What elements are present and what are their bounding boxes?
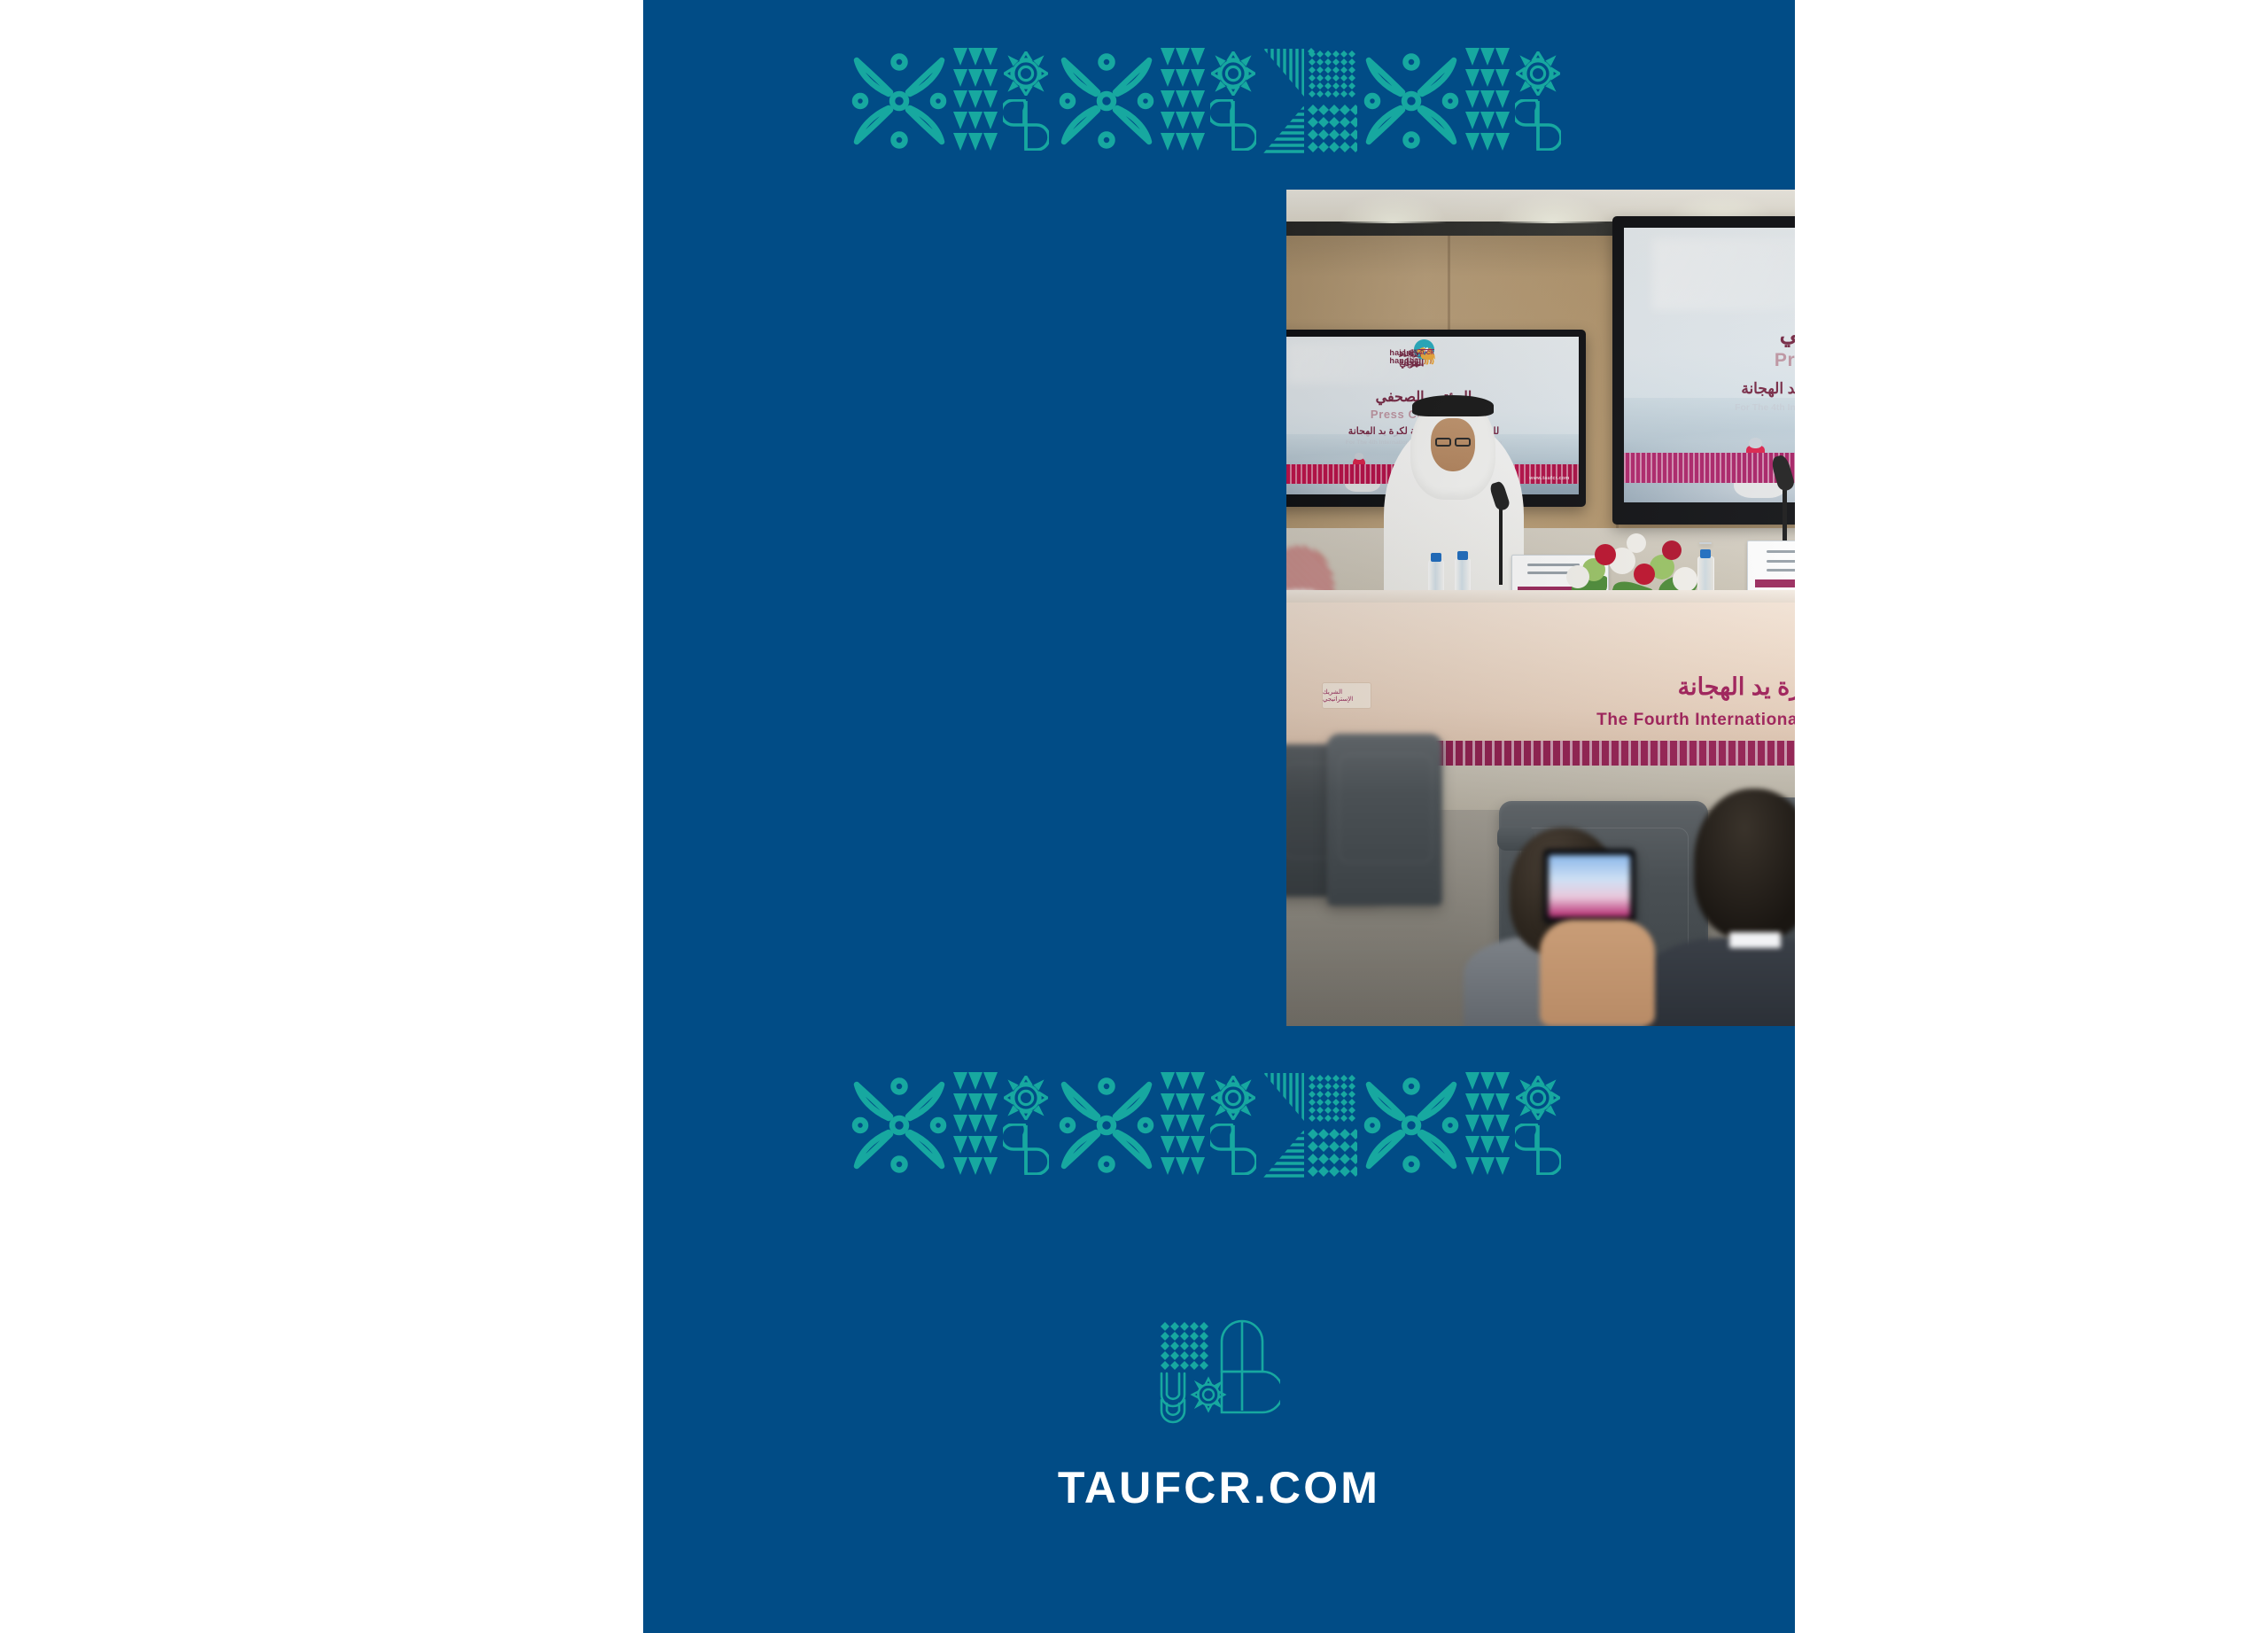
slide-title-latin-center: Press Conference	[1624, 350, 1795, 371]
slide-center: كرة يد الهجانة hajanh handball الاتحاد ا…	[1624, 228, 1795, 502]
sun-icon	[1516, 51, 1560, 96]
audience-shoulders	[1644, 937, 1795, 1026]
flower-motif-icon	[1358, 1072, 1464, 1178]
sun-icon	[1004, 51, 1048, 96]
sun-scurve-motif-icon	[1206, 1068, 1261, 1183]
triangle-grid-motif-icon	[1160, 46, 1206, 156]
screen-glare	[1652, 238, 1795, 310]
scurve-motif-icon	[1210, 99, 1256, 151]
banner-partner-badge-left: الشريك الإستراتيجي	[1322, 682, 1371, 709]
horizontal-stripe-triangle-icon	[1262, 104, 1306, 155]
screen-surface-center: كرة يد الهجانة hajanh handball الاتحاد ا…	[1624, 228, 1795, 502]
scurve-motif-icon	[1003, 1124, 1049, 1175]
scurve-motif-icon	[1515, 1124, 1561, 1175]
slide-action-photo-center	[1624, 398, 1795, 502]
flower-motif-icon	[846, 1072, 952, 1178]
triangle-grid-motif-icon	[952, 1070, 998, 1180]
speaker-left-glasses	[1455, 438, 1471, 447]
sun-icon	[1516, 1076, 1560, 1120]
tablet-device	[1543, 849, 1635, 923]
flower-motif-icon	[1053, 1072, 1160, 1178]
scurve-motif-icon	[1003, 99, 1049, 151]
triangle-grid-motif-icon	[952, 46, 998, 156]
ceiling-spotlight	[1499, 193, 1605, 223]
poster-canvas: كرة يد الهجانة hajanh handball الاتحاد ا…	[0, 0, 2268, 1633]
audience-chair	[1327, 734, 1442, 906]
sun-icon	[1004, 1076, 1048, 1120]
stripe-triangles-motif-icon	[1261, 1069, 1307, 1182]
vertical-stripe-triangle-icon	[1262, 1071, 1306, 1123]
taufcr-logo-mark-icon	[1158, 1318, 1280, 1425]
vertical-stripe-triangle-icon	[1262, 47, 1306, 98]
tablet-screen	[1549, 855, 1630, 918]
banner-title-latin: The Fourth International Camel Handball …	[1286, 711, 1795, 730]
triangle-grid-motif-icon	[1160, 1070, 1206, 1180]
sun-icon	[1211, 1076, 1255, 1120]
slide-url-left: www.taufcr.com	[1529, 476, 1569, 481]
banner-logo-row: كرة يد الهجانة hajanh handball الاتحاد ا…	[1286, 618, 1795, 666]
sun-scurve-motif-icon	[1511, 1068, 1565, 1183]
ceiling-spotlight	[1340, 193, 1446, 223]
ornament-band-top	[643, 30, 1795, 172]
sun-scurve-motif-icon	[998, 43, 1053, 159]
sun-scurve-motif-icon	[1511, 43, 1565, 159]
sun-scurve-motif-icon	[998, 1068, 1053, 1183]
water-bottle-cap	[1431, 553, 1441, 562]
audience-shirt-collar	[1729, 932, 1781, 948]
triangle-grid-motif-icon	[1464, 1070, 1511, 1180]
poster-blue-panel: كرة يد الهجانة hajanh handball الاتحاد ا…	[643, 0, 1795, 1633]
diamond-grid-large-icon	[1308, 103, 1357, 154]
slide-subtitle-arabic-center: للبطولة الدولية الرابعة لكرة يد الهجانة	[1624, 380, 1795, 398]
display-screen-center: كرة يد الهجانة hajanh handball الاتحاد ا…	[1612, 216, 1795, 525]
nameplate-center	[1747, 540, 1795, 592]
aucr-abbr: AUCR	[1418, 349, 1433, 356]
diamond-grid-large-icon	[1308, 1127, 1357, 1178]
flower-motif-icon	[1053, 48, 1160, 154]
sun-icon	[1211, 51, 1255, 96]
water-bottle-cap	[1457, 551, 1468, 560]
press-conference-photograph: كرة يد الهجانة hajanh handball الاتحاد ا…	[1286, 190, 1795, 1026]
microphone-stand	[1499, 502, 1503, 585]
scurve-motif-icon	[1210, 1124, 1256, 1175]
ornament-band-bottom	[643, 1054, 1795, 1196]
scurve-motif-icon	[1515, 99, 1561, 151]
slide-ornament-strip-center	[1624, 453, 1795, 483]
audience-head	[1694, 789, 1795, 939]
diamond-grid-motif-icon	[1307, 44, 1358, 158]
triangle-grid-motif-icon	[1464, 46, 1511, 156]
horizontal-stripe-triangle-icon	[1262, 1128, 1306, 1179]
diamond-grid-small-icon	[1308, 1072, 1357, 1124]
brand-website-url: TAUFCR.COM	[1058, 1462, 1380, 1513]
speaker-left-glasses	[1435, 438, 1451, 447]
sun-scurve-motif-icon	[1206, 43, 1261, 159]
flower-motif-icon	[1358, 48, 1464, 154]
diamond-grid-small-icon	[1308, 48, 1357, 99]
brand-lockup: TAUFCR.COM	[643, 1318, 1795, 1513]
slide-title-arabic-center: المؤتمر الصحفي	[1624, 320, 1795, 347]
speaker-left-agal	[1412, 395, 1494, 416]
audience-hands	[1540, 920, 1655, 1026]
stripe-triangles-motif-icon	[1261, 44, 1307, 158]
diamond-grid-motif-icon	[1307, 1069, 1358, 1182]
flower-motif-icon	[846, 48, 952, 154]
